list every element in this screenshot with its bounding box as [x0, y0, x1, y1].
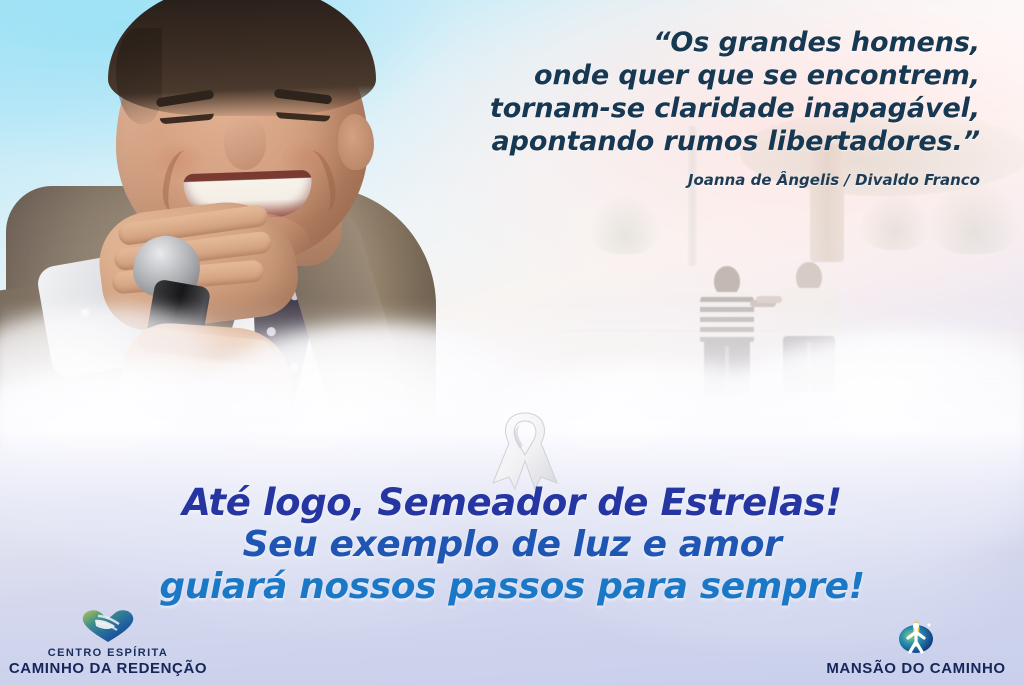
globe-figure-icon [816, 619, 1016, 655]
logo-left-line1: CENTRO ESPÍRITA [8, 647, 208, 659]
tribute-message: Até logo, Semeador de Estrelas! Seu exem… [0, 482, 1024, 608]
quote-line-2: onde quer que se encontrem, [420, 59, 980, 92]
palm-shrub-icon [860, 190, 930, 250]
nose [224, 118, 266, 170]
logo-mansao-do-caminho: MANSÃO DO CAMINHO [816, 619, 1016, 677]
heart-hands-icon [8, 608, 208, 644]
quote-attribution: Joanna de Ângelis / Divaldo Franco [420, 171, 980, 189]
quote-line-1: “Os grandes homens, [420, 26, 980, 59]
memorial-poster: “Os grandes homens, onde quer que se enc… [0, 0, 1024, 685]
palm-shrub-icon [928, 180, 1020, 254]
white-mourning-ribbon-icon [487, 405, 563, 491]
message-line-3: guiará nossos passos para sempre! [0, 566, 1024, 608]
message-line-2: Seu exemplo de luz e amor [0, 524, 1024, 566]
quote-line-4: apontando rumos libertadores.” [420, 125, 980, 158]
palm-shrub-icon [590, 194, 660, 254]
ear [338, 114, 374, 170]
quote-line-3: tornam-se claridade inapagável, [420, 92, 980, 125]
message-line-1: Até logo, Semeador de Estrelas! [0, 482, 1024, 524]
logo-right-line1: MANSÃO DO CAMINHO [816, 660, 1016, 677]
hair [108, 0, 376, 116]
logo-centro-espirita: CENTRO ESPÍRITA CAMINHO DA REDENÇÃO [8, 608, 208, 677]
quote-block: “Os grandes homens, onde quer que se enc… [420, 26, 980, 189]
logo-left-line2: CAMINHO DA REDENÇÃO [8, 660, 208, 677]
